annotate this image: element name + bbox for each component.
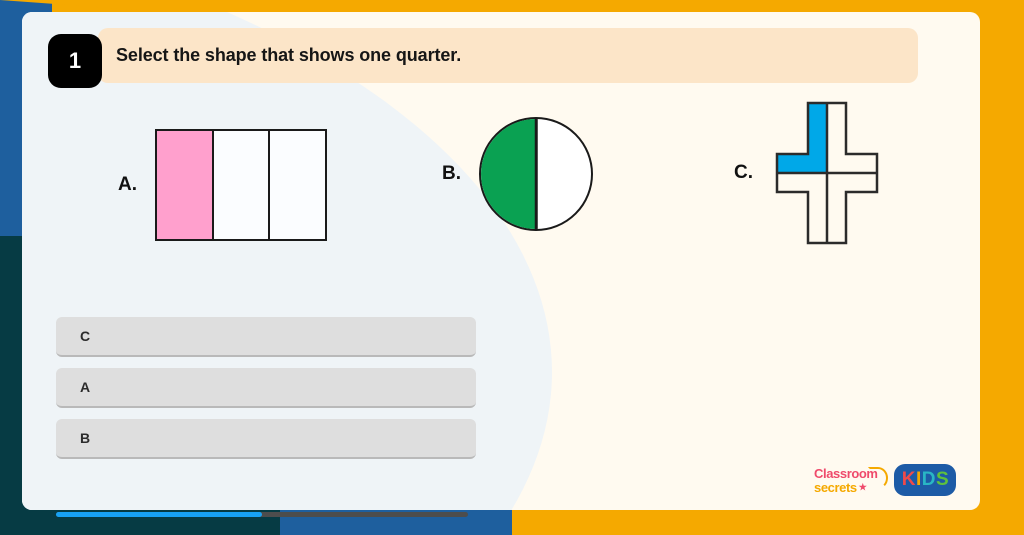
shape-option-c: C. (734, 97, 883, 249)
question-number-badge: 1 (48, 34, 102, 88)
quiz-screen: 1 Select the shape that shows one quarte… (0, 0, 1024, 535)
rectangle-cell-empty (270, 131, 325, 239)
answer-option-1[interactable]: C (56, 317, 476, 357)
rectangle-cell-empty (214, 131, 271, 239)
shape-option-c-label: C. (734, 162, 753, 184)
kids-letter-s: S (936, 469, 948, 491)
cross-quadrant-filled (777, 103, 827, 173)
circle-divider (535, 119, 538, 229)
progress-bar-track[interactable] (56, 512, 468, 517)
question-card: 1 Select the shape that shows one quarte… (22, 12, 980, 510)
circle-halves-diagram (479, 117, 593, 231)
rectangle-cell-filled (157, 131, 214, 239)
kids-logo-badge: K I D S (894, 464, 956, 496)
answer-option-1-label: C (80, 328, 90, 344)
answer-options-list: C A B (56, 317, 476, 470)
question-number-text: 1 (69, 48, 81, 74)
shape-option-a-label: A. (118, 174, 137, 196)
branding-logos: Classroom secrets ★ K I D S (814, 464, 956, 496)
shape-option-b: B. (442, 117, 593, 231)
answer-option-2-label: A (80, 379, 90, 395)
progress-bar-fill (56, 512, 262, 517)
rectangle-thirds-diagram (155, 129, 327, 241)
classroom-secrets-logo: Classroom secrets ★ (814, 465, 886, 495)
kids-letter-d: D (922, 469, 935, 491)
kids-letter-k: K (902, 469, 915, 491)
shape-options-row: A. B. C. (22, 97, 980, 287)
cross-quarters-diagram (771, 97, 883, 249)
star-icon: ★ (859, 483, 867, 492)
answer-option-3-label: B (80, 430, 90, 446)
question-banner: Select the shape that shows one quarter. (98, 28, 918, 83)
circle-half-filled (481, 119, 536, 229)
answer-option-3[interactable]: B (56, 419, 476, 459)
kids-letter-i: I (916, 469, 921, 491)
question-text: Select the shape that shows one quarter. (116, 45, 461, 66)
swoosh-icon (868, 467, 888, 489)
shape-option-a: A. (118, 129, 327, 241)
cross-svg (771, 97, 883, 249)
classroom-secrets-word: secrets (814, 481, 857, 494)
answer-option-2[interactable]: A (56, 368, 476, 408)
shape-option-b-label: B. (442, 163, 461, 185)
